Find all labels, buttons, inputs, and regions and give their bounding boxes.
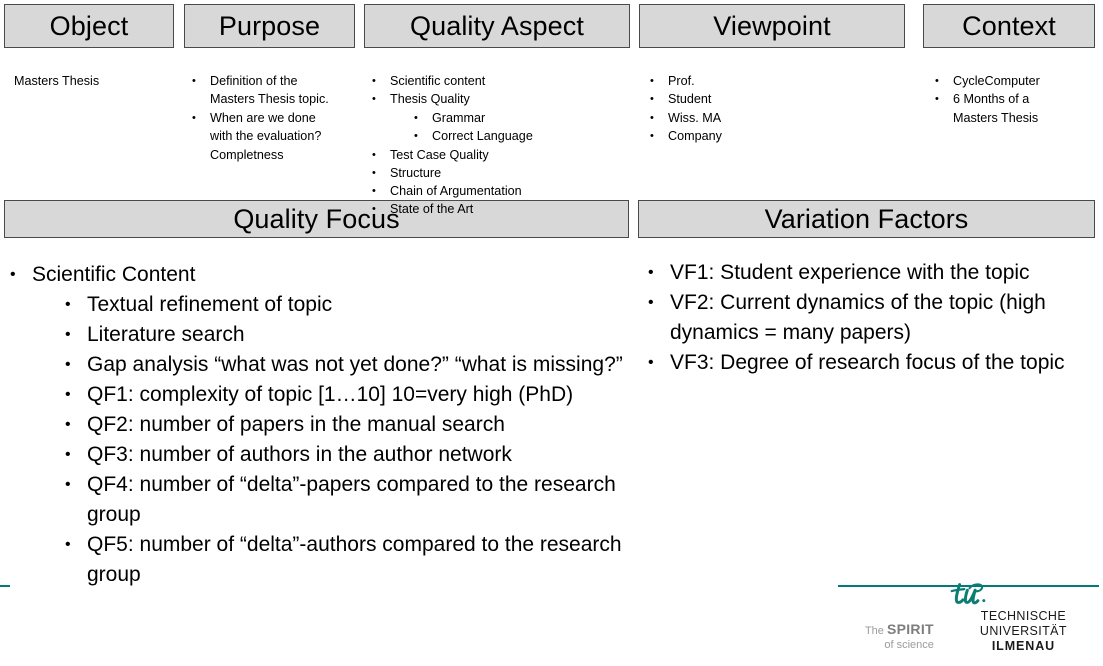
header-label-object: Object: [50, 13, 129, 40]
column-item-quality-aspect-2: Grammar: [432, 109, 626, 127]
bullet-dot-icon: •: [650, 90, 668, 108]
bullet-dot-icon: •: [65, 440, 87, 470]
quality-focus-item-0: Scientific Content: [32, 260, 630, 290]
list-item: • QF3: number of authors in the author n…: [10, 440, 630, 470]
column-item-quality-aspect-3: Correct Language: [432, 127, 626, 145]
list-item: • Scientific Content: [10, 260, 630, 290]
list-item: • 6 Months of a Masters Thesis: [935, 90, 1075, 127]
column-body-quality-aspect: • Scientific content • Thesis Quality • …: [372, 72, 626, 201]
spirit-the: The: [865, 625, 887, 637]
header-box-variation-factors: Variation Factors: [638, 200, 1095, 238]
spirit-subtitle: of science: [840, 638, 934, 652]
list-item: • Thesis Quality: [372, 90, 626, 108]
bullet-dot-icon: •: [372, 182, 390, 200]
list-item: • CycleComputer: [935, 72, 1075, 90]
university-name: TECHNISCHE UNIVERSITÄT: [947, 609, 1100, 639]
quality-focus-item-6: QF3: number of authors in the author net…: [87, 440, 630, 470]
bullet-dot-icon: •: [192, 109, 210, 127]
bullet-dot-icon: •: [648, 258, 670, 288]
bullet-dot-icon: •: [414, 109, 432, 127]
footer-divider-left-tick: [0, 585, 10, 587]
quality-focus-item-5: QF2: number of papers in the manual sear…: [87, 410, 630, 440]
quality-focus-item-2: Literature search: [87, 320, 630, 350]
bullet-dot-icon: •: [372, 200, 390, 218]
bullet-dot-icon: •: [935, 72, 953, 90]
list-item: • Test Case Quality: [372, 146, 626, 164]
column-item-purpose-0: Definition of the Masters Thesis topic.: [210, 72, 332, 109]
column-item-quality-aspect-5: Structure: [390, 164, 626, 182]
column-item-object-0: Masters Thesis: [14, 72, 174, 90]
quality-focus-item-4: QF1: complexity of topic [1…10] 10=very …: [87, 380, 630, 410]
bullet-dot-icon: •: [65, 320, 87, 350]
variation-factor-item-1: VF2: Current dynamics of the topic (high…: [670, 288, 1088, 348]
spirit-of-science-slogan: The SPIRIT of science: [840, 622, 934, 654]
header-box-object: Object: [4, 4, 174, 48]
list-item: • VF3: Degree of research focus of the t…: [648, 348, 1088, 378]
header-box-purpose: Purpose: [184, 4, 355, 48]
tu-ilmenau-logo: TECHNISCHE UNIVERSITÄT ILMENAU: [947, 582, 1100, 654]
list-item: • Gap analysis “what was not yet done?” …: [10, 350, 630, 380]
column-item-context-1: 6 Months of a Masters Thesis: [953, 90, 1075, 127]
list-item: • Grammar: [372, 109, 626, 127]
list-item: • State of the Art: [372, 200, 473, 218]
list-item: • QF2: number of papers in the manual se…: [10, 410, 630, 440]
header-label-viewpoint: Viewpoint: [713, 13, 830, 40]
bullet-dot-icon: •: [650, 72, 668, 90]
panel-quality-focus-body: • Scientific Content • Textual refinemen…: [10, 260, 630, 590]
bullet-dot-icon: •: [65, 530, 87, 560]
tu-monogram-icon: [947, 582, 1005, 608]
quality-focus-item-1: Textual refinement of topic: [87, 290, 630, 320]
panel-variation-factors-body: • VF1: Student experience with the topic…: [648, 258, 1088, 378]
bullet-dot-icon: •: [372, 90, 390, 108]
header-box-context: Context: [923, 4, 1095, 48]
list-item: • QF4: number of “delta”-papers compared…: [10, 470, 630, 530]
column-item-quality-aspect-1: Thesis Quality: [390, 90, 626, 108]
bullet-dot-icon: •: [648, 348, 670, 378]
column-body-context: • CycleComputer • 6 Months of a Masters …: [935, 72, 1075, 127]
bullet-dot-icon: •: [372, 146, 390, 164]
list-item: • Prof.: [650, 72, 890, 90]
list-item: • QF1: complexity of topic [1…10] 10=ver…: [10, 380, 630, 410]
column-body-object: Masters Thesis: [14, 72, 174, 90]
column-item-quality-aspect-overflow: • State of the Art: [372, 200, 473, 218]
variation-factor-item-0: VF1: Student experience with the topic: [670, 258, 1088, 288]
bullet-dot-icon: •: [192, 72, 210, 90]
column-body-viewpoint: • Prof. • Student • Wiss. MA • Company: [650, 72, 890, 146]
list-item: • VF1: Student experience with the topic: [648, 258, 1088, 288]
bullet-dot-icon: •: [414, 127, 432, 145]
quality-focus-item-8: QF5: number of “delta”-authors compared …: [87, 530, 630, 590]
column-item-viewpoint-2: Wiss. MA: [668, 109, 890, 127]
header-box-quality-focus: Quality Focus: [4, 200, 629, 238]
tu-monogram-dot: [982, 599, 985, 602]
list-item: • Student: [650, 90, 890, 108]
column-item-quality-aspect-4: Test Case Quality: [390, 146, 626, 164]
bullet-dot-icon: •: [10, 260, 32, 290]
header-label-purpose: Purpose: [219, 13, 320, 40]
bullet-dot-icon: •: [650, 109, 668, 127]
column-body-purpose: • Definition of the Masters Thesis topic…: [192, 72, 332, 164]
list-item: • Correct Language: [372, 127, 626, 145]
header-label-variation-factors: Variation Factors: [765, 206, 969, 233]
column-item-viewpoint-3: Company: [668, 127, 890, 145]
list-item: • Definition of the Masters Thesis topic…: [192, 72, 332, 109]
list-item: • Company: [650, 127, 890, 145]
list-item: • Wiss. MA: [650, 109, 890, 127]
column-item-viewpoint-0: Prof.: [668, 72, 890, 90]
list-item: • Scientific content: [372, 72, 626, 90]
column-item-quality-aspect-0: Scientific content: [390, 72, 626, 90]
quality-focus-item-7: QF4: number of “delta”-papers compared t…: [87, 470, 630, 530]
column-item-purpose-1: When are we done with the evaluation? Co…: [210, 109, 332, 164]
bullet-dot-icon: •: [65, 380, 87, 410]
list-item: • QF5: number of “delta”-authors compare…: [10, 530, 630, 590]
bullet-dot-icon: •: [65, 290, 87, 320]
bullet-dot-icon: •: [935, 90, 953, 108]
list-item: • Structure: [372, 164, 626, 182]
bullet-dot-icon: •: [65, 470, 87, 500]
bullet-dot-icon: •: [372, 72, 390, 90]
list-item: • Chain of Argumentation: [372, 182, 626, 200]
header-label-quality-aspect: Quality Aspect: [410, 13, 584, 40]
list-item: • Literature search: [10, 320, 630, 350]
spirit-word: SPIRIT: [887, 621, 934, 637]
bullet-dot-icon: •: [648, 288, 670, 318]
column-item-context-0: CycleComputer: [953, 72, 1075, 90]
column-item-quality-aspect-overflow-label: State of the Art: [390, 200, 473, 218]
bullet-dot-icon: •: [65, 410, 87, 440]
quality-focus-item-3: Gap analysis “what was not yet done?” “w…: [87, 350, 630, 380]
university-city: ILMENAU: [947, 639, 1100, 654]
column-item-viewpoint-1: Student: [668, 90, 890, 108]
footer-logo: The SPIRIT of science TECHNISCHE UNIVERS…: [840, 598, 1100, 654]
list-item: • Textual refinement of topic: [10, 290, 630, 320]
column-item-quality-aspect-6: Chain of Argumentation: [390, 182, 626, 200]
list-item: • VF2: Current dynamics of the topic (hi…: [648, 288, 1088, 348]
list-item: • When are we done with the evaluation? …: [192, 109, 332, 164]
bullet-dot-icon: •: [650, 127, 668, 145]
header-label-context: Context: [962, 13, 1056, 40]
bullet-dot-icon: •: [65, 350, 87, 380]
header-box-viewpoint: Viewpoint: [639, 4, 905, 48]
bullet-dot-icon: •: [372, 164, 390, 182]
header-box-quality-aspect: Quality Aspect: [364, 4, 630, 48]
variation-factor-item-2: VF3: Degree of research focus of the top…: [670, 348, 1088, 378]
